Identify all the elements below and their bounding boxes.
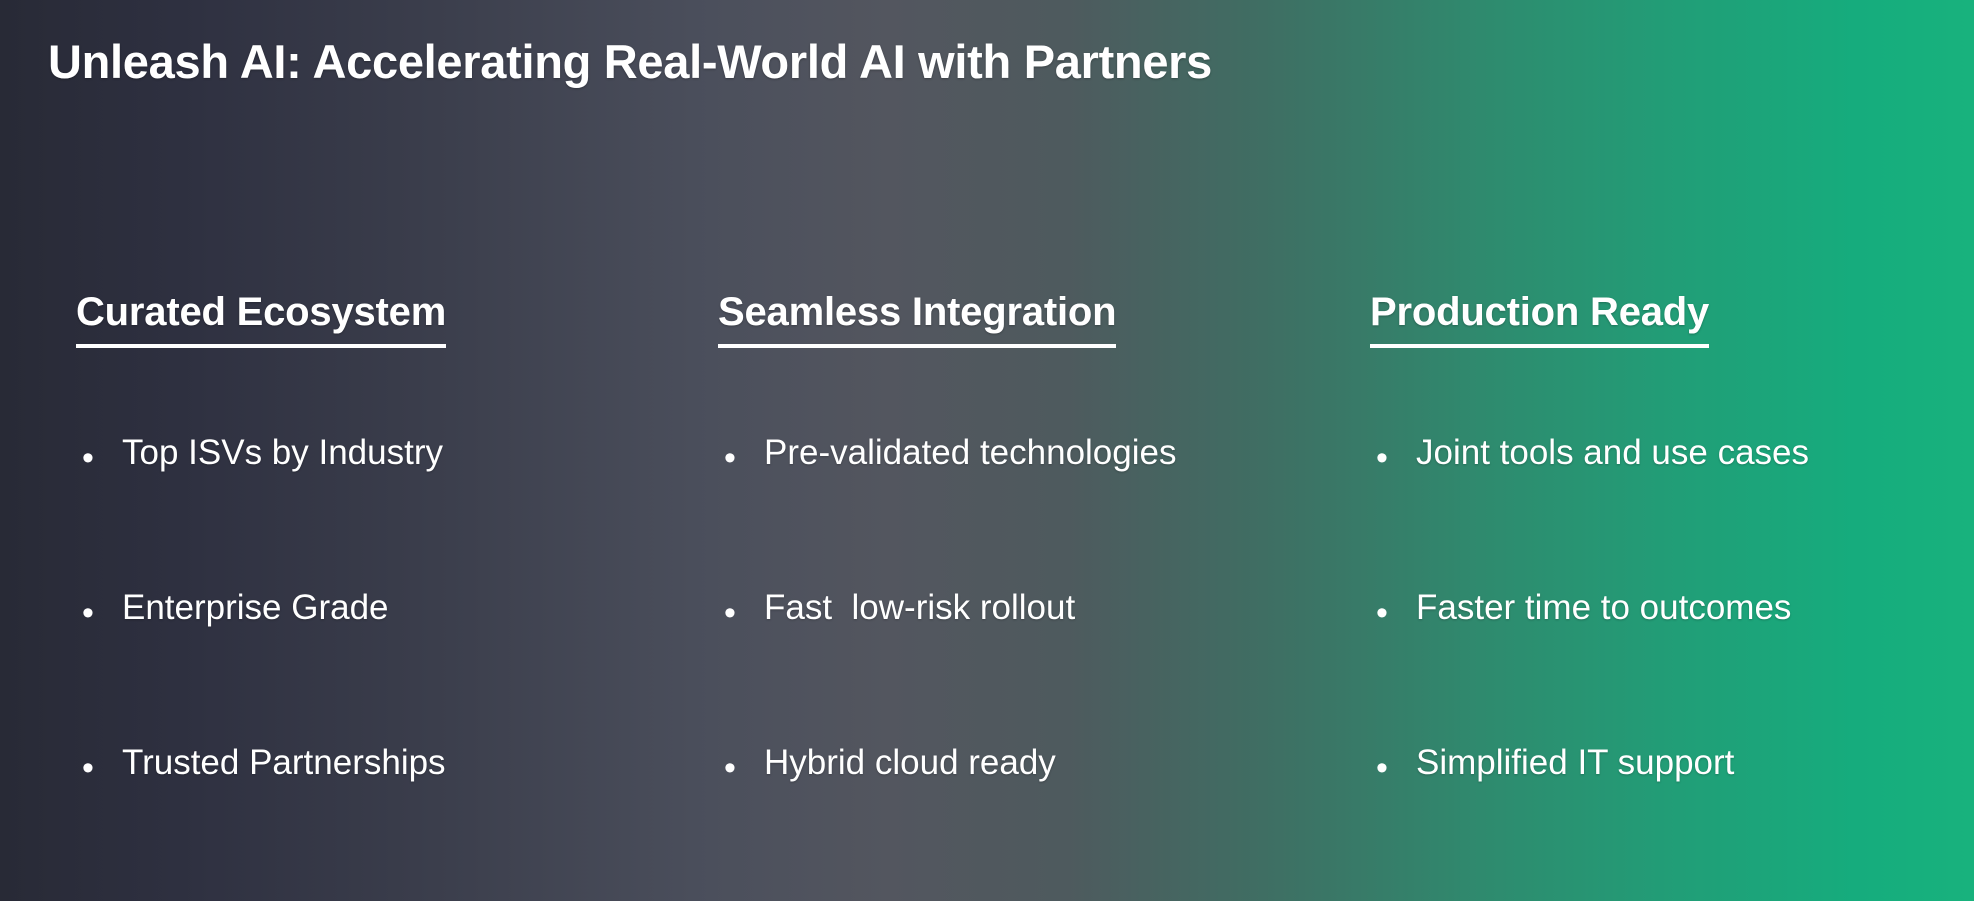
list-item: • Enterprise Grade — [76, 590, 696, 668]
list-item: • Pre-validated technologies — [718, 435, 1338, 513]
list-item-label: Fast low-risk rollout — [764, 590, 1338, 627]
list-item-label: Trusted Partnerships — [122, 745, 696, 782]
list-item-label: Pre-validated technologies — [764, 435, 1338, 472]
bullet-dot-icon: • — [1370, 590, 1416, 630]
bullet-list: • Joint tools and use cases • Faster tim… — [1370, 435, 1970, 823]
bullet-list: • Top ISVs by Industry • Enterprise Grad… — [76, 435, 696, 823]
list-item-label: Top ISVs by Industry — [122, 435, 696, 472]
bullet-dot-icon: • — [76, 590, 122, 630]
column-production-ready: Production Ready • Joint tools and use c… — [1370, 290, 1970, 823]
list-item-label: Hybrid cloud ready — [764, 745, 1338, 782]
list-item-label: Joint tools and use cases — [1416, 435, 1970, 472]
bullet-list: • Pre-validated technologies • Fast low-… — [718, 435, 1338, 823]
slide-canvas: Unleash AI: Accelerating Real-World AI w… — [0, 0, 1974, 901]
bullet-dot-icon: • — [718, 745, 764, 785]
list-item: • Hybrid cloud ready — [718, 745, 1338, 823]
column-curated-ecosystem: Curated Ecosystem • Top ISVs by Industry… — [76, 290, 696, 823]
list-item: • Top ISVs by Industry — [76, 435, 696, 513]
page-title: Unleash AI: Accelerating Real-World AI w… — [48, 34, 1212, 89]
list-item: • Joint tools and use cases — [1370, 435, 1970, 513]
bullet-dot-icon: • — [76, 435, 122, 475]
bullet-dot-icon: • — [1370, 435, 1416, 475]
columns-container: Curated Ecosystem • Top ISVs by Industry… — [0, 290, 1974, 850]
list-item: • Fast low-risk rollout — [718, 590, 1338, 668]
bullet-dot-icon: • — [718, 435, 764, 475]
list-item-label: Simplified IT support — [1416, 745, 1970, 782]
list-item: • Simplified IT support — [1370, 745, 1970, 823]
list-item: • Faster time to outcomes — [1370, 590, 1970, 668]
bullet-dot-icon: • — [76, 745, 122, 785]
column-heading: Seamless Integration — [718, 290, 1116, 348]
list-item: • Trusted Partnerships — [76, 745, 696, 823]
bullet-dot-icon: • — [718, 590, 764, 630]
column-seamless-integration: Seamless Integration • Pre-validated tec… — [718, 290, 1338, 823]
column-heading: Curated Ecosystem — [76, 290, 446, 348]
bullet-dot-icon: • — [1370, 745, 1416, 785]
list-item-label: Faster time to outcomes — [1416, 590, 1970, 627]
column-heading: Production Ready — [1370, 290, 1709, 348]
list-item-label: Enterprise Grade — [122, 590, 696, 627]
